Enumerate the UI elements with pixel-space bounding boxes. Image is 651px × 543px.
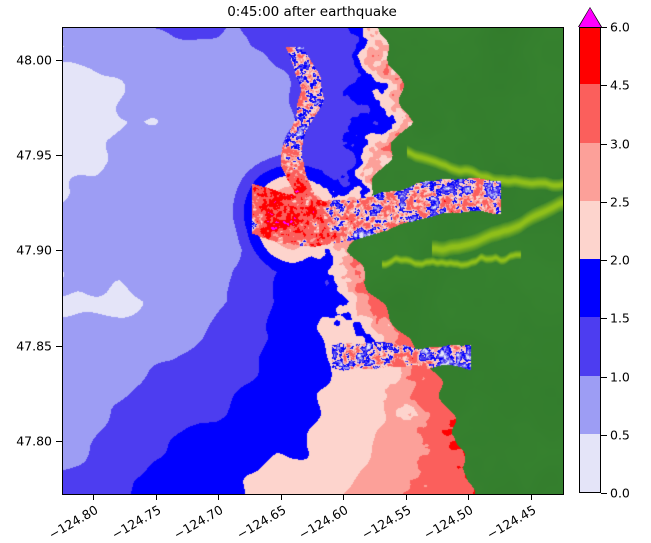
- x-tick-mark: [218, 494, 219, 500]
- x-tick-label: −124.60: [295, 502, 351, 543]
- colorbar-tick-label: 2.0: [610, 253, 630, 268]
- x-tick-label: −124.55: [357, 502, 413, 543]
- x-tick-mark: [531, 494, 532, 500]
- y-tick-label: 47.80: [0, 433, 52, 448]
- y-tick-label: 47.90: [0, 243, 52, 258]
- colorbar-tick-mark: [601, 493, 607, 494]
- colorbar-band: [580, 84, 600, 143]
- colorbar[interactable]: [579, 27, 601, 493]
- colorbar-tick-mark: [601, 377, 607, 378]
- x-tick-label: −124.45: [482, 502, 538, 543]
- colorbar-tick-mark: [601, 85, 607, 86]
- y-tick-label: 47.85: [0, 338, 52, 353]
- colorbar-bands: [579, 27, 601, 493]
- colorbar-tick-label: 1.5: [610, 311, 630, 326]
- colorbar-tick-label: 3.0: [610, 136, 630, 151]
- x-tick-mark: [156, 494, 157, 500]
- x-tick-label: −124.65: [232, 502, 288, 543]
- colorbar-tick-mark: [601, 144, 607, 145]
- colorbar-tick-mark: [601, 27, 607, 28]
- colorbar-band: [580, 375, 600, 434]
- colorbar-tick-mark: [601, 260, 607, 261]
- chart-title: 0:45:00 after earthquake: [62, 2, 562, 22]
- x-tick-mark: [93, 494, 94, 500]
- y-tick-mark: [56, 346, 62, 347]
- x-tick-label: −124.75: [107, 502, 163, 543]
- colorbar-tick-label: 1.0: [610, 369, 630, 384]
- colorbar-band: [580, 27, 600, 84]
- x-tick-mark: [406, 494, 407, 500]
- figure-canvas: 0:45:00 after earthquake 47.8047.8547.90…: [0, 0, 651, 541]
- colorbar-tick-label: 6.0: [610, 20, 630, 35]
- colorbar-tick-label: 0.0: [610, 486, 630, 501]
- colorbar-band: [580, 200, 600, 259]
- colorbar-band: [580, 433, 600, 492]
- y-tick-label: 47.95: [0, 148, 52, 163]
- x-tick-mark: [281, 494, 282, 500]
- x-tick-mark: [468, 494, 469, 500]
- colorbar-band: [580, 317, 600, 376]
- colorbar-tick-mark: [601, 202, 607, 203]
- y-tick-mark: [56, 250, 62, 251]
- colorbar-tick-label: 0.5: [610, 427, 630, 442]
- colorbar-over-arrow-icon: [579, 8, 601, 27]
- tsunami-field-raster: [63, 28, 563, 494]
- colorbar-tick-mark: [601, 435, 607, 436]
- colorbar-band: [580, 258, 600, 317]
- x-tick-label: −124.70: [170, 502, 226, 543]
- colorbar-tick-label: 2.5: [610, 194, 630, 209]
- y-tick-mark: [56, 441, 62, 442]
- map-plot-area[interactable]: [62, 27, 564, 495]
- colorbar-band: [580, 142, 600, 201]
- x-tick-label: −124.80: [45, 502, 101, 543]
- colorbar-tick-mark: [601, 318, 607, 319]
- x-tick-mark: [343, 494, 344, 500]
- x-tick-label: −124.50: [420, 502, 476, 543]
- colorbar-tick-label: 4.5: [610, 78, 630, 93]
- y-tick-label: 48.00: [0, 53, 52, 68]
- y-tick-mark: [56, 155, 62, 156]
- y-tick-mark: [56, 60, 62, 61]
